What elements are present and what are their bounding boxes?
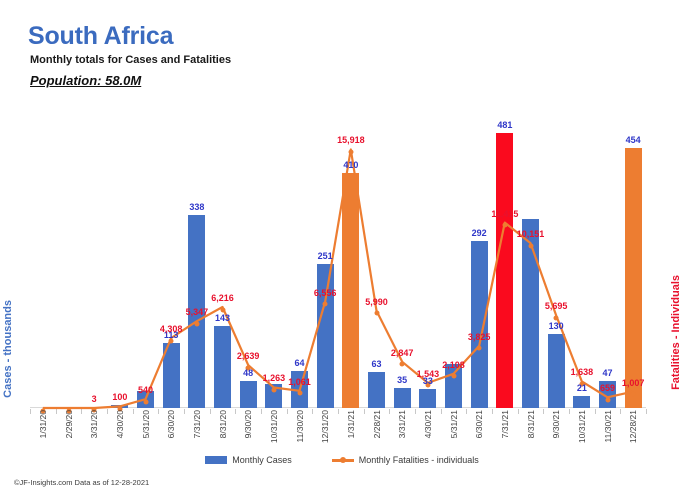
x-axis-label: 1/31/21 xyxy=(346,410,356,438)
line-label: 5,347 xyxy=(186,307,209,317)
x-axis-label: 7/31/20 xyxy=(192,410,202,438)
line-label: 659 xyxy=(600,383,615,393)
x-axis-label: 9/30/20 xyxy=(243,410,253,438)
bar-label: 481 xyxy=(497,120,512,130)
x-axis-label: 4/30/20 xyxy=(115,410,125,438)
bar-label: 292 xyxy=(472,228,487,238)
line-label: 10,151 xyxy=(517,229,545,239)
line-label: 3,825 xyxy=(468,332,491,342)
x-axis-label: 12/31/20 xyxy=(320,410,330,443)
x-axis-label: 10/31/20 xyxy=(269,410,279,443)
x-axis-label: 8/31/20 xyxy=(218,410,228,438)
fatalities-line-path xyxy=(43,150,633,409)
bar-label: 64 xyxy=(294,358,304,368)
x-tick xyxy=(646,409,647,414)
x-axis-label: 5/31/21 xyxy=(449,410,459,438)
x-axis-label: 2/28/21 xyxy=(372,410,382,438)
x-axis-label: 11/30/21 xyxy=(603,410,613,442)
x-axis-label: 7/31/21 xyxy=(500,410,510,438)
fatalities-line-series xyxy=(30,100,646,408)
line-label: 6,556 xyxy=(314,288,337,298)
bar-label: 143 xyxy=(215,313,230,323)
bar-label: 251 xyxy=(318,251,333,261)
line-marker[interactable] xyxy=(271,387,276,392)
line-marker[interactable] xyxy=(143,399,148,404)
x-axis-label: 6/30/20 xyxy=(166,410,176,438)
line-label: 1,061 xyxy=(288,377,311,387)
line-label: 1,638 xyxy=(571,367,594,377)
x-axis-label: 2/29/20 xyxy=(64,410,74,438)
y-axis-left-title: Cases - thousands xyxy=(2,300,14,398)
line-label: 11,415 xyxy=(491,209,518,219)
bar-label: 63 xyxy=(371,359,381,369)
x-axis-label: 5/31/20 xyxy=(141,410,151,438)
line-label: 1,007 xyxy=(622,378,645,388)
line-label: 15,918 xyxy=(337,135,365,145)
chart-subtitle: Monthly totals for Cases and Fatalities xyxy=(30,54,231,66)
footer-attribution: ©JF-Insights.com Data as of 12-28-2021 xyxy=(14,478,149,487)
legend-item-cases[interactable]: Monthly Cases xyxy=(205,455,292,465)
line-marker[interactable] xyxy=(631,392,636,397)
line-label: 6,216 xyxy=(211,293,234,303)
x-axis-label: 3/31/21 xyxy=(397,410,407,438)
line-marker[interactable] xyxy=(194,321,199,326)
x-axis-labels: 1/31/202/29/203/31/204/30/205/31/206/30/… xyxy=(30,410,646,456)
bar-label: 454 xyxy=(626,135,641,145)
line-marker[interactable] xyxy=(297,391,302,396)
line-label: 2,108 xyxy=(442,360,465,370)
x-axis-label: 1/31/20 xyxy=(38,410,48,438)
bar-label: 130 xyxy=(549,321,564,331)
x-axis-label: 10/31/21 xyxy=(577,410,587,443)
line-label: 1,263 xyxy=(263,373,286,383)
line-marker[interactable] xyxy=(502,223,507,228)
bar-label: 410 xyxy=(343,160,358,170)
line-label: 2,847 xyxy=(391,348,414,358)
line-swatch-icon xyxy=(332,456,354,464)
bar-swatch-icon xyxy=(205,456,227,464)
plot-area: 1133381434864251410633533292481130214745… xyxy=(30,100,646,408)
line-marker[interactable] xyxy=(220,307,225,312)
chart-page: South Africa Monthly totals for Cases an… xyxy=(0,0,684,496)
line-marker[interactable] xyxy=(528,243,533,248)
x-axis-label: 11/30/20 xyxy=(295,410,305,442)
line-label: 540 xyxy=(138,385,153,395)
x-axis-label: 3/31/20 xyxy=(89,410,99,438)
y-axis-right-title: Fatalities - Individuals xyxy=(670,275,682,390)
line-marker[interactable] xyxy=(323,302,328,307)
line-marker[interactable] xyxy=(400,362,405,367)
x-axis-label: 6/30/21 xyxy=(474,410,484,438)
line-marker[interactable] xyxy=(451,374,456,379)
line-label: 100 xyxy=(112,392,127,402)
line-marker[interactable] xyxy=(605,397,610,402)
x-axis-label: 9/30/21 xyxy=(551,410,561,438)
line-label: 4,308 xyxy=(160,324,183,334)
line-marker[interactable] xyxy=(477,346,482,351)
line-marker[interactable] xyxy=(348,149,353,154)
legend-label-fatalities: Monthly Fatalities - individuals xyxy=(359,455,479,465)
legend-item-fatalities[interactable]: Monthly Fatalities - individuals xyxy=(332,455,479,465)
population-note: Population: 58.0M xyxy=(30,73,141,88)
line-label: 1,543 xyxy=(417,369,440,379)
line-marker[interactable] xyxy=(374,311,379,316)
line-label: 2,639 xyxy=(237,351,260,361)
chart-legend: Monthly Cases Monthly Fatalities - indiv… xyxy=(0,455,684,465)
legend-label-cases: Monthly Cases xyxy=(232,455,292,465)
line-label: 3 xyxy=(92,394,97,404)
x-axis-label: 4/30/21 xyxy=(423,410,433,438)
x-axis-label: 8/31/21 xyxy=(526,410,536,438)
line-label: 5,990 xyxy=(365,297,388,307)
bar-label: 47 xyxy=(602,368,612,378)
line-label: 5,695 xyxy=(545,301,568,311)
bar-label: 35 xyxy=(397,375,407,385)
bar-label: 48 xyxy=(243,368,253,378)
bar-label: 338 xyxy=(189,202,204,212)
x-axis-label: 12/28/21 xyxy=(628,410,638,443)
bar-label: 21 xyxy=(577,383,587,393)
page-title: South Africa xyxy=(28,22,173,51)
